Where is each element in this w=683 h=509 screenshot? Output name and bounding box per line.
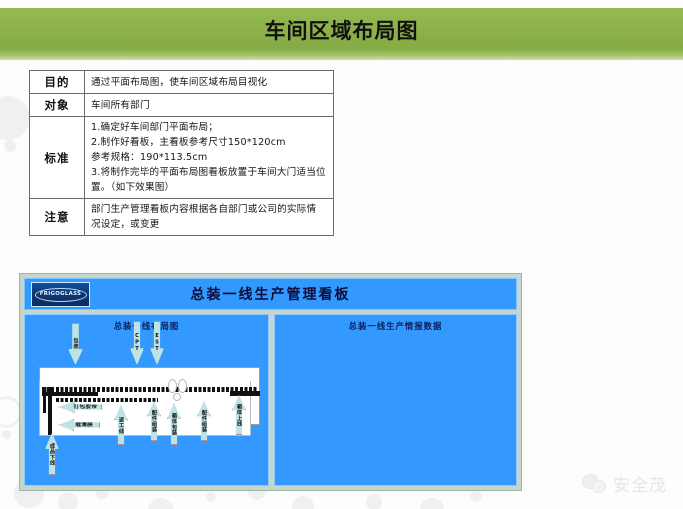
decor-bubble [420, 498, 444, 509]
watermark: 安全茂 [582, 471, 667, 496]
arrow-label: 成品下线 [49, 443, 55, 465]
text-line: 1.确定好车间部门平面布局； [91, 120, 329, 135]
row-value-standard: 1.确定好车间部门平面布局； 2.制作好看板，主看板参考尺寸150*120cm … [85, 117, 334, 199]
decor-bubble [58, 492, 78, 509]
wall-left-vertical [48, 387, 52, 435]
page-title: 车间区域布局图 [0, 8, 683, 54]
assembly-line-secondary [56, 398, 158, 402]
wall-left-inner [43, 387, 46, 413]
text-line: 2.制作好看板，主看板参考尺寸150*120cm [91, 135, 329, 150]
panel-layout-diagram: 总装一线布局图 包 [24, 314, 269, 486]
panel-production-data: 总装一线生产情报数据 [274, 314, 517, 486]
kanban-board-title: 总装一线生产管理看板 [25, 279, 516, 311]
kanban-board-frame: FRIGOGLASS 总装一线生产管理看板 总装一线布局图 [19, 273, 522, 491]
table-row: 对象 车间所有部门 [30, 94, 334, 117]
decor-bubble [292, 496, 314, 509]
text-line: 通过平面布局图，使车间区域布局目视化 [91, 75, 329, 90]
panel-title-layout: 总装一线布局图 [25, 320, 268, 332]
assembly-line-end [230, 391, 260, 396]
row-key-note: 注意 [30, 199, 85, 236]
text-line: 3.将制作完毕的平面布局图看板放置于车间大门适当位 [91, 165, 329, 180]
decor-bubble [366, 494, 382, 509]
arrow-label: 返工线 [118, 417, 124, 434]
arrow-label: 包装 [73, 338, 79, 349]
decor-bubble [148, 498, 174, 509]
fixture-circle [173, 393, 181, 401]
arrow-up-finished-goods-offline: 成品下线 [45, 433, 59, 475]
table-row: 目的 通过平面布局图，使车间区域布局目视化 [30, 71, 334, 94]
row-key-standard: 标准 [30, 117, 85, 199]
table-row: 注意 部门生产管理看板内容根据各自部门或公司的实际情 况设定，或变更 [30, 199, 334, 236]
text-line: 参考规格：190*113.5cm [91, 150, 329, 165]
arrow-label: 箱体包装 [171, 413, 177, 435]
watermark-text: 安全茂 [613, 471, 667, 496]
slide-title-banner: 车间区域布局图 [0, 8, 683, 60]
text-line: 部门生产管理看板内容根据各自部门或公司的实际情 [91, 202, 329, 217]
row-key-target: 对象 [30, 94, 85, 117]
kanban-body: 总装一线布局图 包 [24, 314, 517, 486]
arrow-label: CPT [134, 333, 140, 352]
wechat-bubbles-icon [582, 474, 606, 493]
slide-page: 车间区域布局图 目的 通过平面布局图，使车间区域布局目视化 对象 车间所有部门 … [0, 0, 683, 509]
panel-title-data: 总装一线生产情报数据 [275, 320, 516, 332]
fixture-circle [168, 379, 177, 393]
decor-bubble [206, 492, 216, 502]
arrow-label: EST [154, 333, 160, 352]
table-row: 标准 1.确定好车间部门平面布局； 2.制作好看板，主看板参考尺寸150*120… [30, 117, 334, 199]
arrow-label: 缠薄膜 [65, 422, 93, 428]
decor-bubble [0, 96, 30, 140]
specification-table: 目的 通过平面布局图，使车间区域布局目视化 对象 车间所有部门 标准 1.确定好… [29, 70, 334, 236]
decor-bubble [2, 430, 11, 439]
arrow-label: 打包胶带 [63, 404, 97, 410]
text-line: 车间所有部门 [91, 98, 329, 113]
row-value-note: 部门生产管理看板内容根据各自部门或公司的实际情 况设定，或变更 [85, 199, 334, 236]
text-line: 况设定，或变更 [91, 217, 329, 232]
decor-bubble [470, 490, 482, 502]
row-key-purpose: 目的 [30, 71, 85, 94]
fixture-circle [178, 379, 187, 393]
bubble-small [592, 480, 606, 493]
row-value-target: 车间所有部门 [85, 94, 334, 117]
arrow-label: 箱体上线 [236, 404, 242, 426]
workshop-layout-drawing: 包装 CPT EST 打包胶带 缠薄膜 [34, 357, 262, 479]
arrow-label: 配件组装 [201, 410, 207, 432]
text-line: 置。（如下效果图） [91, 180, 329, 195]
arrow-label: 配件组装 [151, 410, 157, 432]
decor-bubble [4, 140, 16, 152]
row-value-purpose: 通过平面布局图，使车间区域布局目视化 [85, 71, 334, 94]
kanban-header: FRIGOGLASS 总装一线生产管理看板 [24, 278, 517, 310]
